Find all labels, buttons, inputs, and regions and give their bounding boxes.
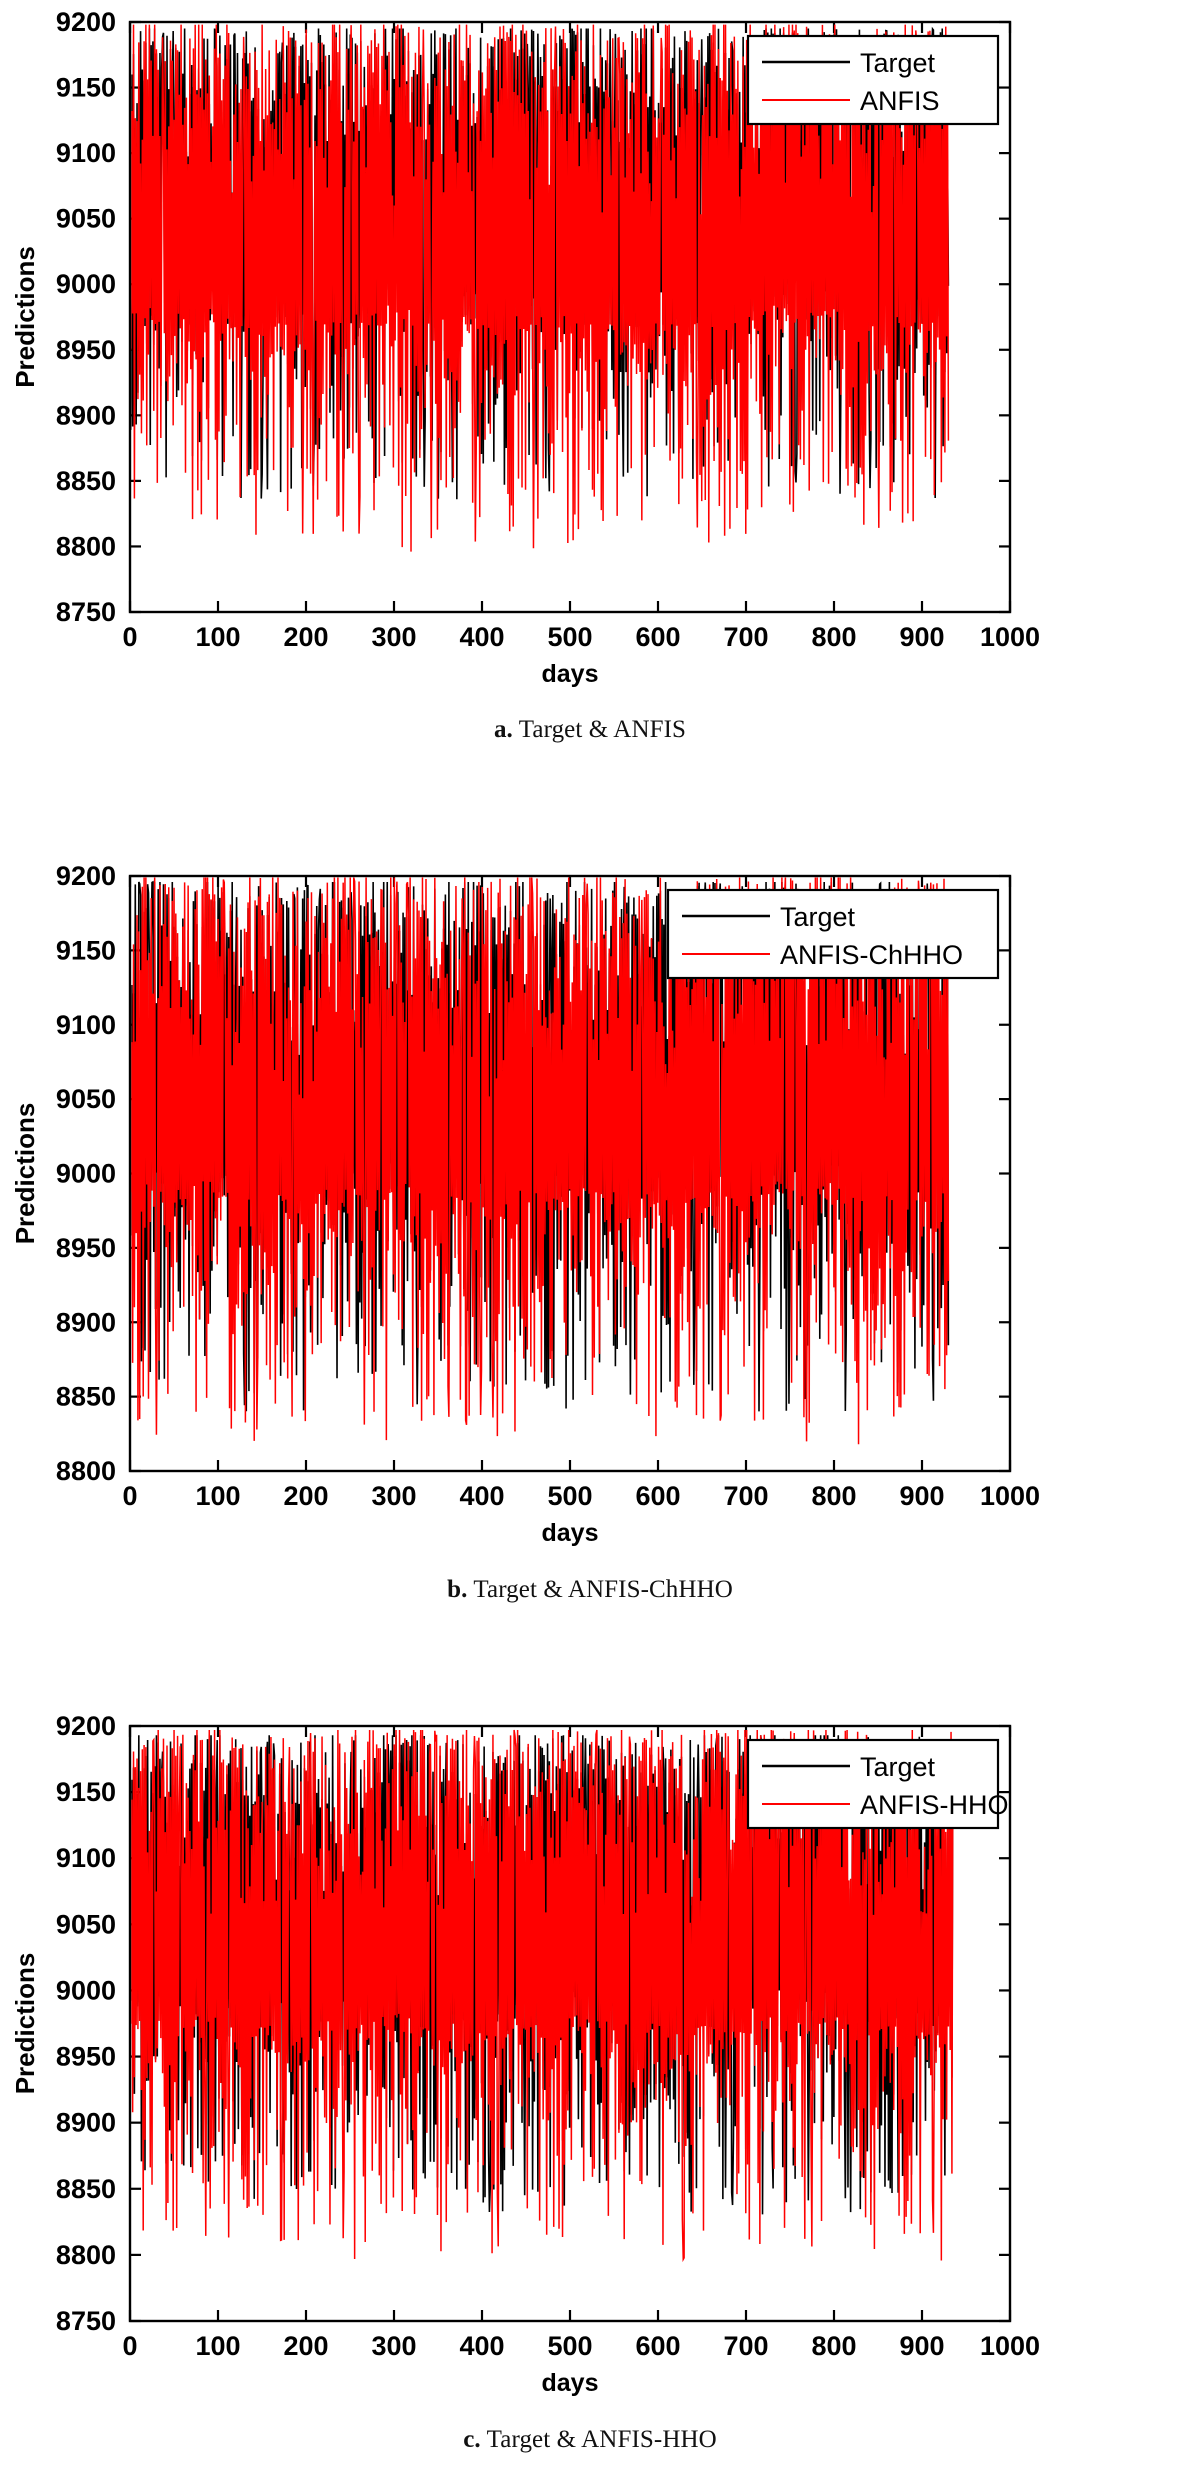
caption-a-text: Target & ANFIS [513, 716, 686, 743]
chart-c[interactable]: 0100200300400500600700800900100087508800… [0, 1712, 1180, 2412]
y-tick-label: 9000 [56, 1975, 116, 2005]
x-tick-label: 800 [811, 622, 856, 652]
x-tick-label: 100 [195, 1481, 240, 1511]
legend-label-anfis-hho: ANFIS-HHO [860, 1790, 1009, 1820]
x-tick-label: 600 [635, 2331, 680, 2361]
x-axis-label: days [542, 1519, 599, 1547]
x-tick-label: 400 [459, 2331, 504, 2361]
x-tick-label: 700 [723, 622, 768, 652]
x-axis-label: days [542, 660, 599, 688]
y-tick-label: 9150 [56, 73, 116, 103]
x-tick-label: 1000 [980, 622, 1040, 652]
x-tick-label: 800 [811, 2331, 856, 2361]
y-tick-label: 9150 [56, 1777, 116, 1807]
y-tick-label: 9100 [56, 1843, 116, 1873]
x-tick-label: 200 [283, 2331, 328, 2361]
chart-a[interactable]: 0100200300400500600700800900100087508800… [0, 8, 1180, 698]
y-tick-label: 8800 [56, 2240, 116, 2270]
x-tick-label: 600 [635, 622, 680, 652]
caption-b-label: b. [447, 1576, 467, 1603]
chart-container-b: 0100200300400500600700800900100088008850… [0, 862, 1180, 1562]
x-tick-label: 200 [283, 1481, 328, 1511]
x-tick-label: 900 [899, 622, 944, 652]
x-tick-label: 0 [122, 2331, 137, 2361]
x-tick-label: 500 [547, 1481, 592, 1511]
x-tick-label: 700 [723, 1481, 768, 1511]
y-tick-label: 9200 [56, 862, 116, 891]
legend-label-anfis: ANFIS [860, 86, 940, 116]
x-tick-label: 300 [371, 1481, 416, 1511]
x-tick-label: 100 [195, 622, 240, 652]
x-tick-label: 600 [635, 1481, 680, 1511]
y-tick-label: 9000 [56, 1159, 116, 1189]
chart-container-a: 0100200300400500600700800900100087508800… [0, 8, 1180, 698]
y-axis-label: Predictions [10, 1103, 40, 1245]
y-tick-label: 8800 [56, 1456, 116, 1486]
caption-a: a. Target & ANFIS [0, 716, 1180, 744]
y-tick-label: 8850 [56, 1382, 116, 1412]
figure-page: 0100200300400500600700800900100087508800… [0, 0, 1180, 2485]
y-tick-label: 9050 [56, 1084, 116, 1114]
y-tick-label: 8850 [56, 466, 116, 496]
chart-legend[interactable]: TargetANFIS-HHO [748, 1740, 1009, 1828]
figure-panel-a: 0100200300400500600700800900100087508800… [0, 8, 1180, 744]
y-tick-label: 8900 [56, 400, 116, 430]
x-tick-label: 300 [371, 622, 416, 652]
x-tick-label: 500 [547, 2331, 592, 2361]
y-tick-label: 8850 [56, 2174, 116, 2204]
y-tick-label: 9000 [56, 269, 116, 299]
x-tick-label: 500 [547, 622, 592, 652]
y-tick-label: 8950 [56, 1233, 116, 1263]
chart-b[interactable]: 0100200300400500600700800900100088008850… [0, 862, 1180, 1562]
y-tick-label: 9200 [56, 8, 116, 37]
chart-legend[interactable]: TargetANFIS [748, 36, 998, 124]
y-tick-label: 9050 [56, 1909, 116, 1939]
y-tick-label: 9200 [56, 1712, 116, 1741]
x-axis-label: days [542, 2369, 599, 2397]
x-tick-label: 1000 [980, 1481, 1040, 1511]
y-tick-label: 8950 [56, 2042, 116, 2072]
x-tick-label: 900 [899, 2331, 944, 2361]
caption-c: c. Target & ANFIS-HHO [0, 2426, 1180, 2454]
legend-label-target: Target [860, 48, 936, 78]
caption-b-text: Target & ANFIS-ChHHO [467, 1576, 732, 1603]
x-tick-label: 0 [122, 622, 137, 652]
figure-panel-b: 0100200300400500600700800900100088008850… [0, 862, 1180, 1604]
caption-c-text: Target & ANFIS-HHO [481, 2426, 717, 2453]
y-tick-label: 9050 [56, 204, 116, 234]
y-tick-label: 9100 [56, 1010, 116, 1040]
x-tick-label: 400 [459, 1481, 504, 1511]
y-axis-label: Predictions [10, 246, 40, 388]
y-axis-label: Predictions [10, 1953, 40, 2095]
y-tick-label: 8800 [56, 531, 116, 561]
y-tick-label: 8900 [56, 2108, 116, 2138]
y-tick-label: 8900 [56, 1307, 116, 1337]
chart-container-c: 0100200300400500600700800900100087508800… [0, 1712, 1180, 2412]
caption-b: b. Target & ANFIS-ChHHO [0, 1576, 1180, 1604]
x-tick-label: 300 [371, 2331, 416, 2361]
legend-label-target: Target [860, 1752, 936, 1782]
x-tick-label: 800 [811, 1481, 856, 1511]
y-tick-label: 8950 [56, 335, 116, 365]
figure-panel-c: 0100200300400500600700800900100087508800… [0, 1712, 1180, 2454]
x-tick-label: 900 [899, 1481, 944, 1511]
x-tick-label: 200 [283, 622, 328, 652]
x-tick-label: 1000 [980, 2331, 1040, 2361]
y-tick-label: 9100 [56, 138, 116, 168]
x-tick-label: 700 [723, 2331, 768, 2361]
x-tick-label: 100 [195, 2331, 240, 2361]
y-tick-label: 9150 [56, 935, 116, 965]
caption-a-label: a. [494, 716, 513, 743]
x-tick-label: 400 [459, 622, 504, 652]
legend-label-anfis-chhho: ANFIS-ChHHO [780, 940, 963, 970]
caption-c-label: c. [463, 2426, 481, 2453]
y-tick-label: 8750 [56, 597, 116, 627]
chart-legend[interactable]: TargetANFIS-ChHHO [668, 890, 998, 978]
y-tick-label: 8750 [56, 2306, 116, 2336]
x-tick-label: 0 [122, 1481, 137, 1511]
legend-label-target: Target [780, 902, 856, 932]
